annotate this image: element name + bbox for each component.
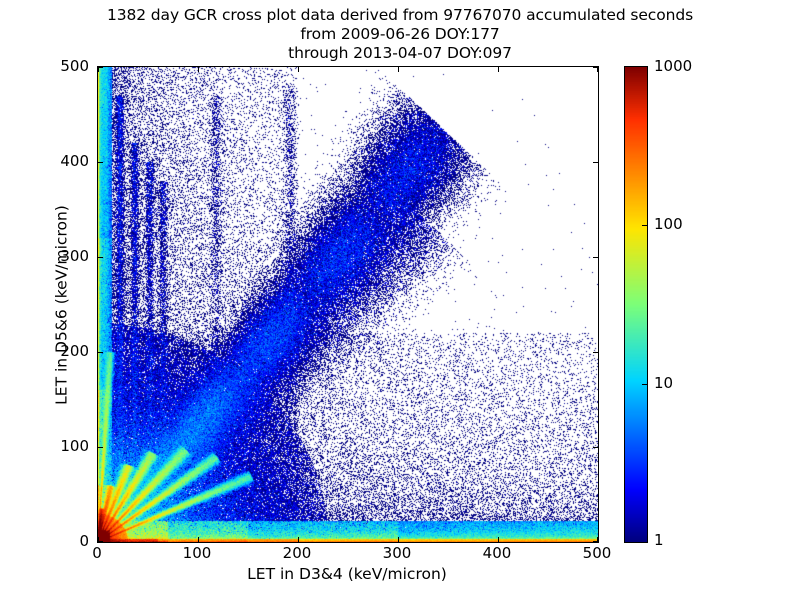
x-tick-label: 100 [183,544,212,562]
density-scatter-plot [98,67,598,542]
colorbar-tick-label: 1000 [654,57,692,75]
x-tick-label: 0 [92,544,102,562]
x-tick-label: 300 [383,544,412,562]
y-axis-label: LET in D5&6 (keV/micron) [53,68,71,543]
x-tick-label: 500 [583,544,612,562]
figure-canvas: 1382 day GCR cross plot data derived fro… [0,0,800,600]
colorbar-tick-label: 1 [654,531,664,549]
colorbar-gradient [625,67,647,542]
title-line-1: 1382 day GCR cross plot data derived fro… [0,6,800,25]
y-tick-label: 0 [79,532,89,550]
x-tick-label: 400 [483,544,512,562]
colorbar-tick-mark [642,225,647,226]
plot-title: 1382 day GCR cross plot data derived fro… [0,6,800,63]
colorbar [624,66,648,543]
colorbar-tick-mark [642,384,647,385]
plot-area [97,66,599,543]
colorbar-tick-label: 100 [654,215,683,233]
title-line-2: from 2009-06-26 DOY:177 [0,25,800,44]
colorbar-tick-label: 10 [654,374,673,392]
x-axis-label: LET in D3&4 (keV/micron) [97,565,597,583]
x-tick-label: 200 [283,544,312,562]
